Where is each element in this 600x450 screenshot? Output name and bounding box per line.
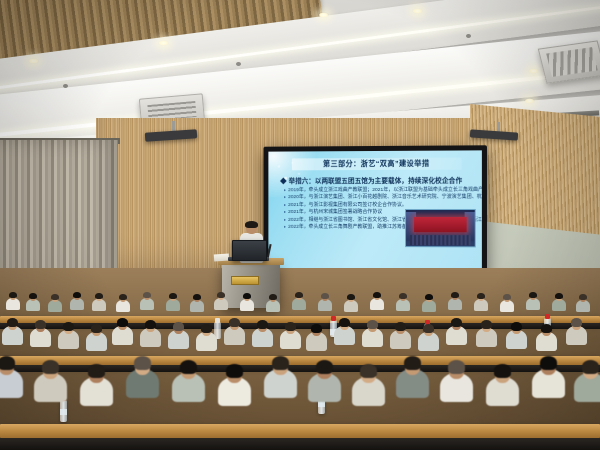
audience-member bbox=[446, 318, 467, 347]
triangle-bullet-icon: ▸ bbox=[284, 195, 286, 200]
audience-member-hair bbox=[88, 364, 106, 378]
audience-member-hair bbox=[511, 322, 522, 331]
audience-member-hair bbox=[134, 356, 152, 370]
audience-member bbox=[344, 294, 358, 314]
audience-member bbox=[48, 294, 62, 314]
audience-member bbox=[266, 294, 280, 314]
audience-member bbox=[190, 294, 204, 314]
audience-member bbox=[306, 324, 327, 353]
ceiling-ac-vent bbox=[538, 40, 600, 83]
presentation-slide: 第三部分：浙艺“双高”建设举措 ◆ 举措六：以两联盟五团五馆为主要载体，持续深化… bbox=[268, 150, 482, 269]
lecture-hall-photo: 第三部分：浙艺“双高”建设举措 ◆ 举措六：以两联盟五团五馆为主要载体，持续深化… bbox=[0, 0, 600, 450]
audience-member bbox=[86, 324, 107, 353]
audience-member-hair bbox=[339, 318, 350, 327]
audience-member-hair bbox=[119, 294, 127, 300]
audience-member bbox=[70, 292, 84, 312]
audience-member bbox=[112, 318, 133, 347]
audience-member bbox=[418, 324, 439, 353]
audience-member bbox=[166, 293, 180, 313]
presenter-hair bbox=[245, 221, 258, 228]
audience-member bbox=[0, 356, 23, 402]
audience-member-hair bbox=[555, 293, 563, 299]
audience-member bbox=[474, 293, 488, 313]
audience-member-hair bbox=[63, 322, 74, 331]
audience-member bbox=[552, 293, 566, 313]
audience-member bbox=[214, 292, 228, 312]
audience-member-hair bbox=[226, 364, 244, 378]
downlight-icon bbox=[524, 98, 535, 104]
audience-member-hair bbox=[494, 364, 512, 378]
audience-member-hair bbox=[35, 320, 46, 329]
audience-member-hair bbox=[321, 293, 329, 299]
audience-member-hair bbox=[117, 318, 128, 327]
audience-member-hair bbox=[399, 293, 407, 299]
photo-led-stage bbox=[414, 217, 466, 232]
presenter-laptop bbox=[232, 240, 267, 261]
audience-member bbox=[30, 320, 51, 349]
audience-member bbox=[532, 356, 565, 402]
audience-member bbox=[240, 293, 254, 313]
audience-member-hair bbox=[257, 320, 268, 329]
audience-member bbox=[476, 320, 497, 349]
audience-member bbox=[440, 360, 473, 406]
audience-member bbox=[264, 356, 297, 402]
audience-member-hair bbox=[272, 356, 290, 370]
audience-member bbox=[318, 293, 332, 313]
list-item: ▸2020年，与浙江演艺集团、浙江小百花越剧院、浙江音乐艺术研究院、宁波演艺集团… bbox=[284, 194, 480, 202]
audience-member bbox=[352, 364, 385, 410]
audience-member bbox=[34, 360, 67, 406]
audience-member bbox=[370, 292, 384, 312]
audience-member-hair bbox=[201, 324, 212, 333]
audience-member bbox=[140, 320, 161, 349]
audience-member-hair bbox=[316, 360, 334, 374]
audience-member-hair bbox=[269, 294, 277, 300]
audience-member bbox=[334, 318, 355, 347]
audience-desk bbox=[0, 424, 600, 438]
audience-member bbox=[506, 322, 527, 351]
audience-member bbox=[2, 318, 23, 347]
audience-member-hair bbox=[367, 320, 378, 329]
audience-member-hair bbox=[91, 324, 102, 333]
audience-member-hair bbox=[529, 292, 537, 298]
audience-member bbox=[576, 294, 590, 314]
downlight-icon bbox=[158, 40, 169, 46]
downlight-icon bbox=[412, 8, 423, 14]
audience-member-hair bbox=[0, 356, 15, 370]
audience-member-hair bbox=[217, 292, 225, 298]
audience-member bbox=[292, 292, 306, 312]
slide-title-text: 第三部分：浙艺“双高”建设举措 bbox=[323, 158, 429, 169]
audience-member-hair bbox=[451, 292, 459, 298]
audience-member-hair bbox=[347, 294, 355, 300]
audience-member-hair bbox=[42, 360, 60, 374]
audience-member bbox=[390, 322, 411, 351]
audience-member-hair bbox=[404, 356, 422, 370]
audience-member bbox=[396, 356, 429, 402]
audience-member-hair bbox=[229, 318, 240, 327]
audience-member bbox=[218, 364, 251, 410]
audience-member bbox=[80, 364, 113, 410]
bullet-text: 2020年，与浙江演艺集团、浙江小百花越剧院、浙江音乐艺术研究院、宁波演艺集团、… bbox=[288, 195, 482, 200]
triangle-bullet-icon: ▸ bbox=[284, 224, 286, 229]
audience-member-hair bbox=[169, 293, 177, 299]
audience-member bbox=[574, 360, 600, 406]
bullet-text: 2021年，与浙江影视集团有限公司签订校企合作协议。 bbox=[288, 203, 407, 208]
audience-member-hair bbox=[503, 294, 511, 300]
audience-member bbox=[6, 292, 20, 312]
audience-member-hair bbox=[143, 292, 151, 298]
audience-member-hair bbox=[373, 292, 381, 298]
audience-member-hair bbox=[51, 294, 59, 300]
audience-member bbox=[500, 294, 514, 314]
slide-heading: ◆ 举措六：以两联盟五团五馆为主要载体，持续深化校企合作 bbox=[280, 175, 476, 186]
audience-member-hair bbox=[7, 318, 18, 327]
audience-member bbox=[26, 293, 40, 313]
triangle-bullet-icon: ▸ bbox=[284, 187, 286, 192]
audience-member-hair bbox=[360, 364, 378, 378]
audience-member-hair bbox=[423, 324, 434, 333]
audience-member bbox=[536, 324, 557, 353]
downlight-icon bbox=[528, 68, 539, 74]
triangle-bullet-icon: ▸ bbox=[284, 202, 286, 207]
audience-member bbox=[308, 360, 341, 406]
audience-member bbox=[280, 322, 301, 351]
audience-member-hair bbox=[571, 318, 582, 327]
bullet-text: 2019年，牵头成立浙江戏曲产教联盟；2021年，以浙江联盟为基础牵头成立长三角… bbox=[288, 188, 482, 193]
audience-member bbox=[58, 322, 79, 351]
audience-member-hair bbox=[285, 322, 296, 331]
audience-member-hair bbox=[451, 318, 462, 327]
audience-member bbox=[224, 318, 245, 347]
audience-member bbox=[140, 292, 154, 312]
bullet-text: 2022年，牵头成立长三角舞剧产教联盟，助推江苏筹备 bbox=[288, 225, 407, 230]
audience-member-hair bbox=[243, 293, 251, 299]
audience-member-hair bbox=[541, 324, 552, 333]
audience-member bbox=[252, 320, 273, 349]
audience-member bbox=[126, 356, 159, 402]
audience-member-hair bbox=[9, 292, 17, 298]
triangle-bullet-icon: ▸ bbox=[284, 217, 286, 222]
audience-member-hair bbox=[145, 320, 156, 329]
smoke-detector-icon bbox=[236, 62, 241, 66]
audience-member bbox=[172, 360, 205, 406]
audience-member-hair bbox=[481, 320, 492, 329]
audience-member-hair bbox=[193, 294, 201, 300]
bullet-text: 2021年，与杭州宋城集团签署战略合作协议 bbox=[288, 210, 382, 215]
audience-member bbox=[362, 320, 383, 349]
triangle-bullet-icon: ▸ bbox=[284, 209, 286, 214]
downlight-icon bbox=[318, 12, 329, 18]
photo-seating bbox=[410, 235, 470, 245]
audience-member-hair bbox=[477, 293, 485, 299]
audience-member-hair bbox=[579, 294, 587, 300]
audience-member bbox=[196, 324, 217, 353]
audience-member bbox=[422, 294, 436, 314]
slide-embedded-photo bbox=[405, 209, 476, 247]
smoke-detector-icon bbox=[63, 84, 68, 88]
smoke-detector-icon bbox=[466, 34, 471, 38]
audience-member bbox=[526, 292, 540, 312]
downlight-icon bbox=[28, 58, 39, 64]
audience-member-hair bbox=[180, 360, 198, 374]
slide-title-banner: 第三部分：浙艺“双高”建设举措 bbox=[292, 158, 462, 171]
audience-member bbox=[448, 292, 462, 312]
podium-papers bbox=[214, 253, 229, 261]
slide-heading-text: ◆ 举措六：以两联盟五团五馆为主要载体，持续深化校企合作 bbox=[280, 178, 462, 186]
audience-member-hair bbox=[95, 293, 103, 299]
audience-member-hair bbox=[448, 360, 466, 374]
audience-member bbox=[486, 364, 519, 410]
audience-member bbox=[92, 293, 106, 313]
audience-member-hair bbox=[425, 294, 433, 300]
audience-member bbox=[116, 294, 130, 314]
audience-member-hair bbox=[311, 324, 322, 333]
audience-member bbox=[396, 293, 410, 313]
audience-member bbox=[168, 322, 189, 351]
audience-member-hair bbox=[73, 292, 81, 298]
audience-member-hair bbox=[582, 360, 600, 374]
audience-member-hair bbox=[295, 292, 303, 298]
podium-nameplate bbox=[231, 276, 259, 285]
projection-screen: 第三部分：浙艺“双高”建设举措 ◆ 举措六：以两联盟五团五馆为主要载体，持续深化… bbox=[264, 145, 487, 274]
audience-member-hair bbox=[29, 293, 37, 299]
audience-desk-front bbox=[0, 438, 600, 450]
audience-member bbox=[566, 318, 587, 347]
audience-member-hair bbox=[173, 322, 184, 331]
audience-member-hair bbox=[395, 322, 406, 331]
audience-member-hair bbox=[540, 356, 558, 370]
